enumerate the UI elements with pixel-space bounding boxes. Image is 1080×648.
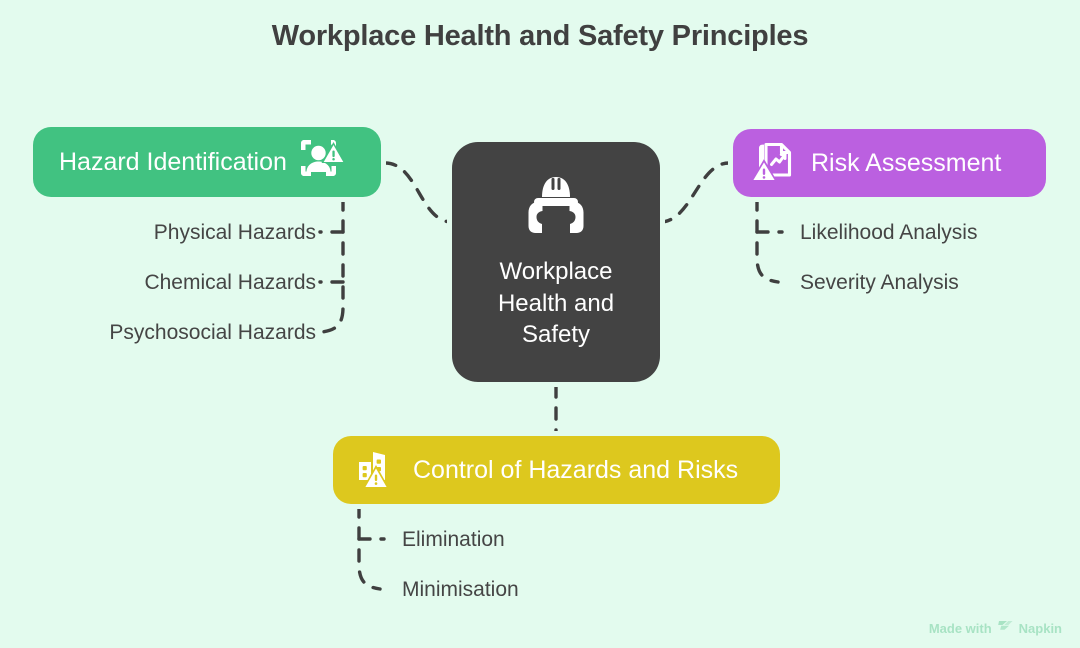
node-risk-assessment[interactable]: Risk Assessment: [733, 129, 1046, 197]
watermark-brand-label: Napkin: [1019, 622, 1062, 635]
leaf-elimination: Elimination: [402, 529, 505, 550]
report-chart-warning-icon: [753, 139, 797, 188]
leaf-psychosocial-hazards: Psychosocial Hazards: [109, 322, 316, 343]
factory-warning-icon: [355, 446, 399, 495]
napkin-logo-icon: [998, 620, 1013, 636]
hazard-scan-warning-icon: [299, 138, 345, 187]
hard-hat-in-hands-icon: [520, 173, 592, 242]
leaf-chemical-hazards: Chemical Hazards: [144, 272, 316, 293]
leaf-severity-analysis: Severity Analysis: [800, 272, 959, 293]
node-center[interactable]: Workplace Health and Safety: [452, 142, 660, 382]
edge-center-to-risk-assessment: [660, 163, 729, 222]
leaf-physical-hazards: Physical Hazards: [154, 222, 316, 243]
node-control-hazards-risks[interactable]: Control of Hazards and Risks: [333, 436, 780, 504]
edge-center-to-hazard-identification: [385, 163, 452, 222]
node-center-label: Workplace Health and Safety: [476, 256, 636, 351]
page-title: Workplace Health and Safety Principles: [0, 20, 1080, 53]
node-risk-assessment-label: Risk Assessment: [811, 151, 1001, 176]
node-hazard-identification[interactable]: Hazard Identification: [33, 127, 381, 197]
edge-stem-control-hazards: [359, 506, 380, 589]
node-hazard-identification-label: Hazard Identification: [59, 150, 287, 175]
edge-stem-hazard-identification: [322, 199, 343, 332]
node-control-hazards-risks-label: Control of Hazards and Risks: [413, 458, 738, 483]
leaf-likelihood-analysis: Likelihood Analysis: [800, 222, 977, 243]
napkin-watermark[interactable]: Made with Napkin: [929, 620, 1062, 636]
edge-stem-risk-assessment: [757, 199, 778, 282]
watermark-prefix-label: Made with: [929, 622, 992, 635]
diagram-canvas: Workplace Health and Safety Principles: [0, 0, 1080, 648]
leaf-minimisation: Minimisation: [402, 579, 519, 600]
